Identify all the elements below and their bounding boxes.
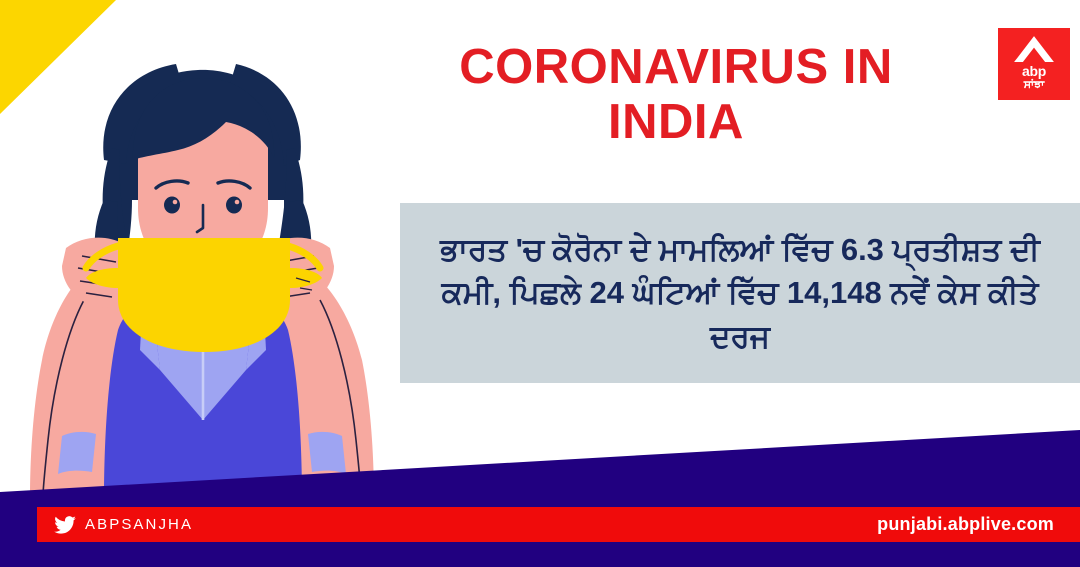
abp-sanjha-logo[interactable]: abp ਸਾਂਝਾ [998,28,1070,100]
twitter-handle-text: ABPSANJHA [85,516,193,533]
footer-bar: ABPSANJHA punjabi.abplive.com [37,507,1080,542]
woman-wearing-mask-illustration [0,0,420,530]
subheadline-text: ਭਾਰਤ 'ਚ ਕੋਰੋਨਾ ਦੇ ਮਾਮਲਿਆਂ ਵਿੱਚ 6.3 ਪ੍ਰਤੀ… [400,228,1080,358]
logo-brand-local-text: ਸਾਂਝਾ [1024,79,1045,92]
website-link[interactable]: punjabi.abplive.com [877,507,1054,542]
news-graphic-card: CORONAVIRUS IN INDIA abp ਸਾਂਝਾ ਭਾਰਤ 'ਚ ਕ… [0,0,1080,567]
twitter-handle-group[interactable]: ABPSANJHA [54,507,193,542]
website-text: punjabi.abplive.com [877,514,1054,535]
subheadline-panel: ਭਾਰਤ 'ਚ ਕੋਰੋਨਾ ਦੇ ਮਾਮਲਿਆਂ ਵਿੱਚ 6.3 ਪ੍ਰਤੀ… [400,203,1080,383]
abp-chevron-icon [1014,36,1054,62]
page-title: CORONAVIRUS IN INDIA [396,40,956,151]
twitter-bird-icon [54,516,76,534]
logo-brand-text: abp [1022,64,1046,78]
